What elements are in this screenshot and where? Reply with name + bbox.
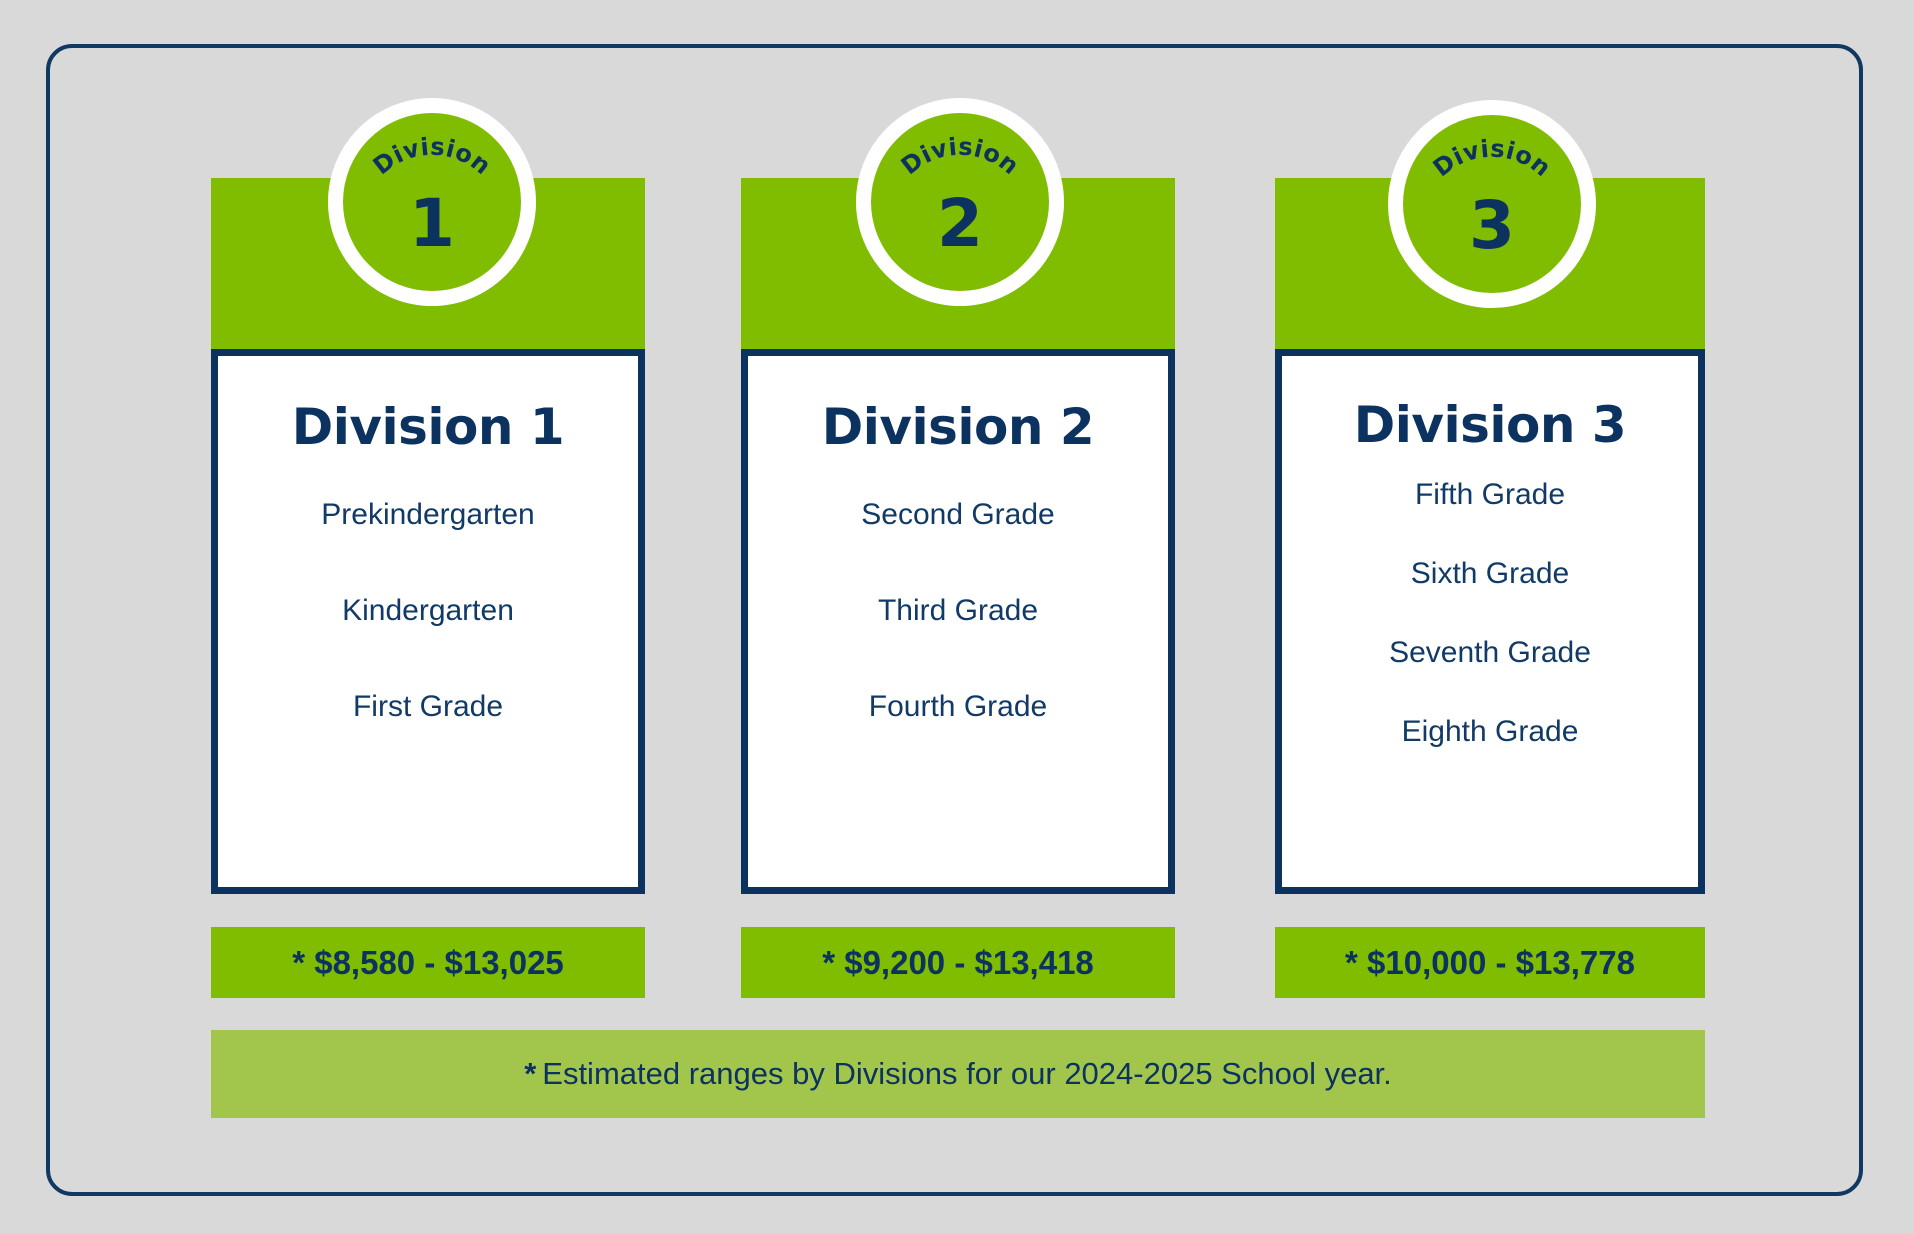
price-range-1: * $8,580 - $13,025: [211, 927, 645, 998]
badge-arc-label-3: Division: [1428, 134, 1557, 182]
badge-arc-label-1: Division: [368, 132, 497, 180]
svg-text:Division: Division: [1428, 134, 1557, 182]
list-item: Second Grade: [748, 498, 1168, 531]
footnote-text: Estimated ranges by Divisions for our 20…: [542, 1056, 1392, 1092]
badge-number-3: 3: [1403, 193, 1581, 259]
card-body-1: Division 1 Prekindergarten Kindergarten …: [211, 349, 645, 894]
card-body-2: Division 2 Second Grade Third Grade Four…: [741, 349, 1175, 894]
card-title-1: Division 1: [292, 402, 564, 452]
badge-arc-label-2: Division: [896, 132, 1025, 180]
division-badge-2: Division 2: [856, 98, 1064, 306]
card-title-3: Division 3: [1354, 400, 1626, 450]
card-title-2: Division 2: [822, 402, 1094, 452]
list-item: Seventh Grade: [1282, 636, 1698, 669]
list-item: Third Grade: [748, 594, 1168, 627]
footnote-bar: * Estimated ranges by Divisions for our …: [211, 1030, 1705, 1118]
badge-number-1: 1: [343, 191, 521, 257]
list-item: Prekindergarten: [218, 498, 638, 531]
list-item: Sixth Grade: [1282, 557, 1698, 590]
price-range-2: * $9,200 - $13,418: [741, 927, 1175, 998]
list-item: Kindergarten: [218, 594, 638, 627]
svg-text:Division: Division: [368, 132, 497, 180]
list-item: First Grade: [218, 690, 638, 723]
list-item: Fourth Grade: [748, 690, 1168, 723]
card-body-3: Division 3 Fifth Grade Sixth Grade Seven…: [1275, 349, 1705, 894]
grade-list-2: Second Grade Third Grade Fourth Grade: [748, 498, 1168, 723]
badge-number-2: 2: [871, 191, 1049, 257]
grade-list-1: Prekindergarten Kindergarten First Grade: [218, 498, 638, 723]
price-range-3: * $10,000 - $13,778: [1275, 927, 1705, 998]
division-badge-1: Division 1: [328, 98, 536, 306]
svg-text:Division: Division: [896, 132, 1025, 180]
list-item: Eighth Grade: [1282, 715, 1698, 748]
grade-list-3: Fifth Grade Sixth Grade Seventh Grade Ei…: [1282, 478, 1698, 794]
footnote-star: *: [524, 1056, 536, 1092]
division-badge-3: Division 3: [1388, 100, 1596, 308]
tuition-divisions-infographic: Division 1 Prekindergarten Kindergarten …: [0, 0, 1914, 1234]
list-item: Fifth Grade: [1282, 478, 1698, 511]
